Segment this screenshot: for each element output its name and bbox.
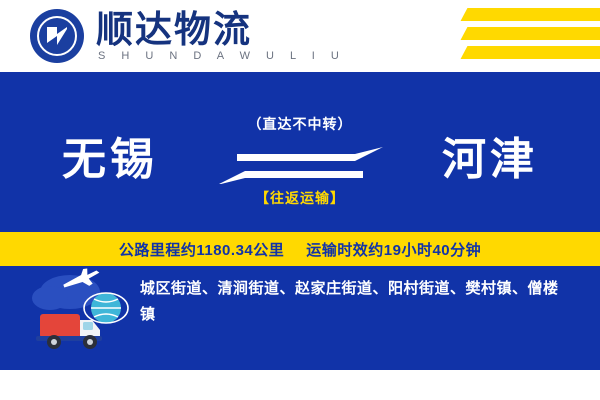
- bottom-strip: [0, 370, 600, 400]
- coverage-areas-text: 城区街道、清涧街道、赵家庄街道、阳村街道、樊村镇、僧楼镇: [140, 276, 570, 328]
- info-bar: 公路里程约1180.34公里 运输时效约19小时40分钟: [0, 232, 600, 266]
- destination-city: 河津: [442, 132, 538, 188]
- header-stripe-3: [461, 46, 600, 59]
- route-middle: （直达不中转） 【往返运输】: [195, 114, 405, 208]
- double-arrow-icon: [195, 142, 405, 184]
- duration-text: 运输时效约19小时40分钟: [306, 239, 481, 260]
- header: 顺达物流 S H U N D A W U L I U: [0, 0, 600, 72]
- route-note-top: （直达不中转）: [195, 114, 405, 134]
- origin-city: 无锡: [62, 132, 158, 188]
- brand-pinyin: S H U N D A W U L I U: [98, 50, 345, 62]
- main-panel: 无锡 （直达不中转） 【往返运输】 河津 公路里程约1180.34公里: [0, 72, 600, 400]
- route-note-bottom: 【往返运输】: [195, 188, 405, 208]
- header-stripe-2: [461, 27, 600, 40]
- distance-text: 公路里程约1180.34公里: [119, 239, 284, 260]
- logistics-route-poster: 顺达物流 S H U N D A W U L I U 无锡 （直达不中转）: [0, 0, 600, 400]
- logo-monogram-icon: [30, 9, 84, 63]
- truck-plane-globe-icon: [28, 268, 132, 354]
- coverage-section: 城区街道、清涧街道、赵家庄街道、阳村街道、樊村镇、僧楼镇: [0, 266, 600, 362]
- header-stripe-1: [461, 8, 600, 21]
- brand-name: 顺达物流: [96, 10, 252, 50]
- route-row: 无锡 （直达不中转） 【往返运输】 河津: [0, 114, 600, 224]
